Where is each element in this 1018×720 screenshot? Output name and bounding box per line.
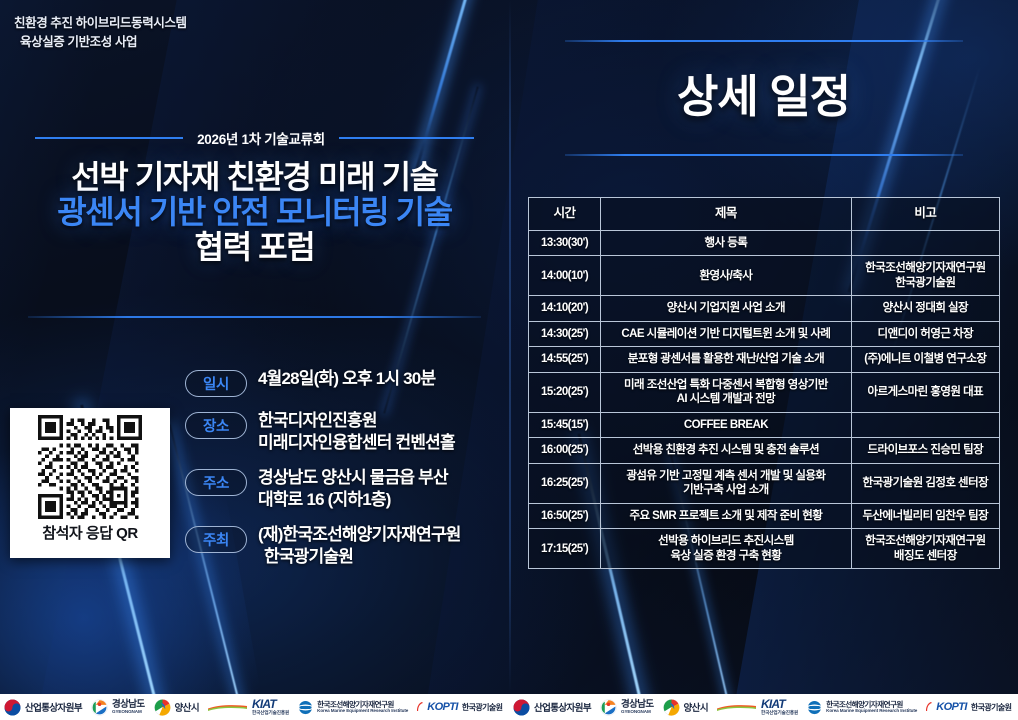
logo-kopti-korean: 한국광기술원 [462,702,503,713]
logo-kopti-label-2: KOPTI [936,701,967,713]
kiat-ribbon-icon [208,704,248,711]
cell-title-line-2: AI 시스템 개발과 전망 [604,392,848,406]
cell-note-line-1: 디앤디이 허영근 차장 [855,327,996,341]
col-header-time: 시간 [529,198,601,231]
cell-title: 행사 등록 [601,231,852,256]
cell-time: 16:25(25') [529,463,601,503]
info-value-venue: 한국디자인진흥원 미래디자인융합센터 컨벤션홀 [258,410,455,454]
schedule-rule-top [565,40,963,42]
kicker-row: 2026년 1차 기술교류회 [0,128,509,148]
info-value-venue-line-1: 한국디자인진흥원 [258,410,455,432]
logo-komeri-text: 한국조선해양기자재연구원 Korea Marine Equipment Rese… [317,701,408,714]
yangsan-emblem-icon [154,699,171,716]
logo-kiat-text: KIAT 한국산업기술진흥원 [252,698,289,715]
gyeongnam-emblem-icon [600,699,617,716]
table-row: 13:30(30') 행사 등록 [529,231,1000,256]
kopti-swoosh-icon [926,702,932,712]
event-info-list: 일시 4월28일(화) 오후 1시 30분 장소 한국디자인진흥원 미래디자인융… [185,368,505,569]
logo-kopti-korean-2: 한국광기술원 [971,702,1012,713]
cell-note-line-1: 두산에너빌리티 임찬우 팀장 [855,509,996,523]
col-header-note: 비고 [851,198,999,231]
logo-yangsan-label: 양산시 [175,700,199,714]
logo-motie: 산업통상자원부 [4,699,82,716]
main-title-line-3: 협력 포럼 [0,230,509,265]
info-value-address: 경상남도 양산시 물금읍 부산 대학로 16 (지하1층) [258,467,448,511]
cell-title-line-1: 선박용 하이브리드 추진시스템 [604,534,848,548]
logo-kopti: KOPTI 한국광기술원 [417,701,502,713]
info-value-datetime: 4월28일(화) 오후 1시 30분 [258,368,435,390]
taegeuk-icon [4,699,21,716]
kicker-text: 2026년 1차 기술교류회 [197,128,325,148]
table-row: 14:30(25') CAE 시뮬레이션 기반 디지털트윈 소개 및 사례 디앤… [529,321,1000,346]
table-row: 17:15(25') 선박용 하이브리드 추진시스템 육상 실증 환경 구축 현… [529,529,1000,569]
info-label-host: 주최 [185,526,247,553]
cell-note-line-1: 드라이브포스 진승민 팀장 [855,443,996,457]
cell-title-line-1: 환영사/축사 [604,269,848,283]
table-header-row: 시간 제목 비고 [529,198,1000,231]
cell-title-line-1: 양산시 기업지원 사업 소개 [604,301,848,315]
logo-gyeongnam: 경상남도 GYEONGNAM [91,699,145,716]
schedule-table-body: 13:30(30') 행사 등록 14:00(10') 환영사/축사 [529,231,1000,569]
cell-note: 한국조선해양기자재연구원 한국광기술원 [851,256,999,296]
cell-note-line-1: 한국조선해양기자재연구원 [855,261,996,275]
cell-time: 14:55(25') [529,347,601,372]
cell-title: 광섬유 기반 고정밀 계측 센서 개발 및 실용화 기반구축 사업 소개 [601,463,852,503]
logo-motie-label: 산업통상자원부 [25,700,82,714]
info-row-datetime: 일시 4월28일(화) 오후 1시 30분 [185,368,505,397]
cell-title-line-1: COFFEE BREAK [604,418,848,432]
table-row: 14:55(25') 분포형 광센서를 활용한 재난/산업 기술 소개 (주)에… [529,347,1000,372]
yangsan-emblem-icon [663,699,680,716]
logo-yangsan-label-2: 양산시 [684,700,708,714]
main-title-line-2: 광센서 기반 안전 모니터링 기술 [0,195,509,230]
table-row: 16:25(25') 광섬유 기반 고정밀 계측 센서 개발 및 실용화 기반구… [529,463,1000,503]
info-value-host-line-2: 한국광기술원 [258,546,461,568]
info-value-address-line-1: 경상남도 양산시 물금읍 부산 [258,467,448,489]
logo-komeri: 한국조선해양기자재연구원 Korea Marine Equipment Rese… [298,700,408,715]
logo-kopti-label: KOPTI [427,701,458,713]
title-underline [28,316,481,318]
cell-title-line-2: 육상 실증 환경 구축 현황 [604,549,848,563]
cell-note-line-1: 아르게스마린 홍영원 대표 [855,385,996,399]
cell-note: 양산시 정대희 실장 [851,296,999,321]
logo-komeri-2: 한국조선해양기자재연구원 Korea Marine Equipment Rese… [807,700,917,715]
main-title: 선박 기자재 친환경 미래 기술 광센서 기반 안전 모니터링 기술 협력 포럼 [0,160,509,266]
cell-note-line-2: 배징도 센터장 [855,549,996,563]
info-value-host-line-1: (재)한국조선해양기자재연구원 [258,524,461,546]
taegeuk-icon [513,699,530,716]
komeri-globe-icon [807,700,822,715]
cell-note [851,231,999,256]
cell-time: 14:10(20') [529,296,601,321]
logo-yangsan-2: 양산시 [663,699,708,716]
kicker-rule-right [339,137,474,139]
schedule-rule-bottom [565,154,963,156]
logo-gyeongnam-sub-2: GYEONGNAM [621,710,654,715]
logo-kiat: KIAT 한국산업기술진흥원 [208,698,289,715]
cell-note: 두산에너빌리티 임찬우 팀장 [851,503,999,528]
cell-time: 14:30(25') [529,321,601,346]
table-row: 14:00(10') 환영사/축사 한국조선해양기자재연구원 한국광기술원 [529,256,1000,296]
cell-title-line-1: 미래 조선산업 특화 다중센서 복합형 영상기반 [604,378,848,392]
cell-title: 분포형 광센서를 활용한 재난/산업 기술 소개 [601,347,852,372]
logo-kiat-sub-2: 한국산업기술진흥원 [761,711,798,716]
logo-motie-label-2: 산업통상자원부 [534,700,591,714]
kicker-rule-left [35,137,183,139]
cell-title-line-2: 기반구축 사업 소개 [604,483,848,497]
cell-time: 16:00(25') [529,438,601,463]
logo-yangsan: 양산시 [154,699,199,716]
cell-note-line-1: 양산시 정대희 실장 [855,301,996,315]
info-label-venue: 장소 [185,412,247,439]
logo-kiat-label: KIAT [252,698,289,711]
schedule-title: 상세 일정 [509,60,1018,125]
logo-komeri-sub: Korea Marine Equipment Research Institut… [317,709,408,714]
cell-title-line-1: 선박용 친환경 추진 시스템 및 충전 솔루션 [604,443,848,457]
schedule-table: 시간 제목 비고 13:30(30') 행사 등록 [528,197,1000,569]
table-row: 14:10(20') 양산시 기업지원 사업 소개 양산시 정대희 실장 [529,296,1000,321]
logo-kopti-2: KOPTI 한국광기술원 [926,701,1011,713]
info-label-address: 주소 [185,469,247,496]
info-row-venue: 장소 한국디자인진흥원 미래디자인융합센터 컨벤션홀 [185,410,505,454]
cell-time: 15:20(25') [529,372,601,412]
sponsor-logo-bar: 산업통상자원부 경상남도 GYEONGNAM [0,694,1018,720]
cell-title-line-1: 주요 SMR 프로젝트 소개 및 제작 준비 현황 [604,509,848,523]
main-title-line-1: 선박 기자재 친환경 미래 기술 [0,160,509,195]
logo-komeri-sub-2: Korea Marine Equipment Research Institut… [826,709,917,714]
poster-canvas: 친환경 추진 하이브리드동력시스템 육상실증 기반조성 사업 2026년 1차 … [0,0,1018,720]
qr-caption: 참석자 응답 QR [42,522,137,543]
info-row-host: 주최 (재)한국조선해양기자재연구원 한국광기술원 [185,524,505,568]
cell-title-line-1: 분포형 광센서를 활용한 재난/산업 기술 소개 [604,352,848,366]
logo-kiat-2: KIAT 한국산업기술진흥원 [717,698,798,715]
cell-title: 미래 조선산업 특화 다중센서 복합형 영상기반 AI 시스템 개발과 전망 [601,372,852,412]
table-row: 15:20(25') 미래 조선산업 특화 다중센서 복합형 영상기반 AI 시… [529,372,1000,412]
komeri-globe-icon [298,700,313,715]
cell-note: (주)에니트 이철병 연구소장 [851,347,999,372]
logo-motie-2: 산업통상자원부 [513,699,591,716]
project-tag-line-2: 육상실증 기반조성 사업 [14,33,187,52]
cell-title: 양산시 기업지원 사업 소개 [601,296,852,321]
gyeongnam-emblem-icon [91,699,108,716]
cell-note: 디앤디이 허영근 차장 [851,321,999,346]
cell-title: 환영사/축사 [601,256,852,296]
info-row-address: 주소 경상남도 양산시 물금읍 부산 대학로 16 (지하1층) [185,467,505,511]
logo-kiat-sub: 한국산업기술진흥원 [252,711,289,716]
logo-gyeongnam-2: 경상남도 GYEONGNAM [600,699,654,716]
table-row: 15:45(15') COFFEE BREAK [529,412,1000,437]
cell-time: 13:30(30') [529,231,601,256]
logo-kiat-text-2: KIAT 한국산업기술진흥원 [761,698,798,715]
cell-title-line-1: 광섬유 기반 고정밀 계측 센서 개발 및 실용화 [604,469,848,483]
table-row: 16:00(25') 선박용 친환경 추진 시스템 및 충전 솔루션 드라이브포… [529,438,1000,463]
cell-note-line-1: 한국조선해양기자재연구원 [855,534,996,548]
info-label-datetime: 일시 [185,370,247,397]
logo-komeri-text-2: 한국조선해양기자재연구원 Korea Marine Equipment Rese… [826,701,917,714]
info-value-host: (재)한국조선해양기자재연구원 한국광기술원 [258,524,461,568]
cell-time: 17:15(25') [529,529,601,569]
right-panel: 상세 일정 시간 제목 비고 13:30(30') [509,0,1018,694]
cell-time: 14:00(10') [529,256,601,296]
qr-card[interactable]: 참석자 응답 QR [10,408,170,558]
col-header-title: 제목 [601,198,852,231]
info-value-address-line-2: 대학로 16 (지하1층) [258,489,448,511]
qr-code-icon[interactable] [38,415,142,519]
left-panel: 친환경 추진 하이브리드동력시스템 육상실증 기반조성 사업 2026년 1차 … [0,0,509,694]
logo-gyeongnam-sub: GYEONGNAM [112,710,145,715]
cell-note-line-1: 한국광기술원 김정호 센터장 [855,476,996,490]
project-tag: 친환경 추진 하이브리드동력시스템 육상실증 기반조성 사업 [14,14,187,52]
cell-note [851,412,999,437]
cell-note: 한국조선해양기자재연구원 배징도 센터장 [851,529,999,569]
cell-note: 드라이브포스 진승민 팀장 [851,438,999,463]
cell-note-line-2: 한국광기술원 [855,276,996,290]
cell-time: 16:50(25') [529,503,601,528]
cell-title-line-1: CAE 시뮬레이션 기반 디지털트윈 소개 및 사례 [604,327,848,341]
cell-title: CAE 시뮬레이션 기반 디지털트윈 소개 및 사례 [601,321,852,346]
logo-strip-left: 산업통상자원부 경상남도 GYEONGNAM [4,694,502,720]
cell-time: 15:45(15') [529,412,601,437]
cell-title: 선박용 하이브리드 추진시스템 육상 실증 환경 구축 현황 [601,529,852,569]
cell-title: 선박용 친환경 추진 시스템 및 충전 솔루션 [601,438,852,463]
logo-kiat-label-2: KIAT [761,698,798,711]
kiat-ribbon-icon [717,704,757,711]
schedule-table-wrapper: 시간 제목 비고 13:30(30') 행사 등록 [528,197,1000,569]
table-row: 16:50(25') 주요 SMR 프로젝트 소개 및 제작 준비 현황 두산에… [529,503,1000,528]
cell-note-line-1: (주)에니트 이철병 연구소장 [855,352,996,366]
kopti-swoosh-icon [417,702,423,712]
project-tag-line-1: 친환경 추진 하이브리드동력시스템 [14,14,187,33]
info-value-datetime-line-1: 4월28일(화) 오후 1시 30분 [258,368,435,390]
logo-gyeongnam-text: 경상남도 GYEONGNAM [112,700,145,715]
cell-note: 아르게스마린 홍영원 대표 [851,372,999,412]
cell-title-line-1: 행사 등록 [604,236,848,250]
info-value-venue-line-2: 미래디자인융합센터 컨벤션홀 [258,432,455,454]
cell-title: COFFEE BREAK [601,412,852,437]
logo-gyeongnam-text-2: 경상남도 GYEONGNAM [621,700,654,715]
cell-note: 한국광기술원 김정호 센터장 [851,463,999,503]
logo-strip-right: 산업통상자원부 경상남도 GYEONGNAM [513,694,1011,720]
cell-title: 주요 SMR 프로젝트 소개 및 제작 준비 현황 [601,503,852,528]
